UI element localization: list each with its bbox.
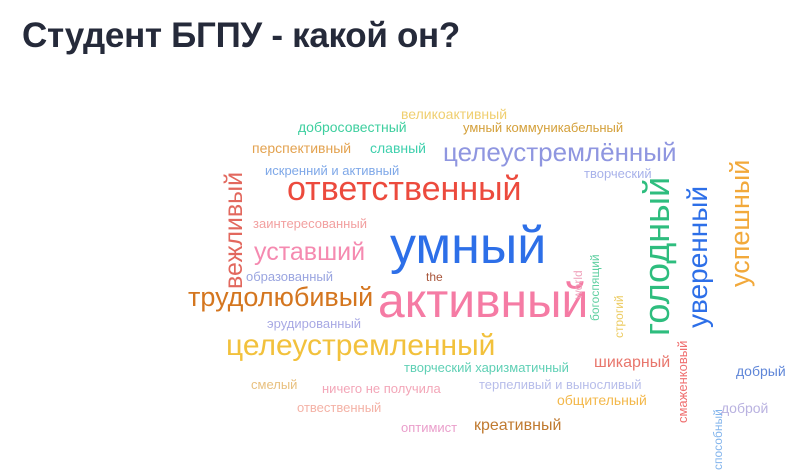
cloud-word: строгий <box>613 295 625 338</box>
cloud-word: добрый <box>736 364 786 378</box>
cloud-word: искренний и активный <box>265 164 399 177</box>
cloud-word: образованный <box>246 270 333 283</box>
cloud-word: терпеливый и выносливый <box>479 378 641 391</box>
cloud-word: уверенный <box>684 186 712 328</box>
cloud-word: отвественный <box>297 401 381 414</box>
word-cloud: умныйактивныйответственныйцелеустремленн… <box>0 88 800 471</box>
cloud-word: доброй <box>721 401 768 415</box>
cloud-word: способный <box>712 409 724 470</box>
cloud-word: шикарный <box>594 355 670 371</box>
cloud-word: перспективный <box>252 141 351 155</box>
cloud-word: эрудированный <box>267 317 361 330</box>
page-title: Студент БГПУ - какой он? <box>22 16 460 56</box>
slide-canvas: Студент БГПУ - какой он? умныйактивныйот… <box>0 0 800 471</box>
cloud-word: умный коммуникабельный <box>463 121 623 134</box>
cloud-word: целеустремленный <box>226 331 495 361</box>
cloud-word: голодный <box>639 177 675 336</box>
cloud-word: оптимист <box>401 421 457 434</box>
cloud-word: целеустремлённый <box>443 139 677 165</box>
cloud-word: добросовестный <box>298 120 407 134</box>
cloud-word: world <box>572 270 584 299</box>
cloud-word: богоспящий <box>589 254 601 321</box>
cloud-word: творческий харизматичный <box>404 361 569 374</box>
cloud-word: активный <box>378 278 588 326</box>
cloud-word: великоактивный <box>401 107 507 121</box>
cloud-word: общительный <box>557 393 647 407</box>
cloud-word: the <box>426 271 443 283</box>
cloud-word: креативный <box>474 418 561 434</box>
cloud-word: успешный <box>727 160 754 287</box>
cloud-word: умный <box>390 220 546 272</box>
cloud-word: творческий <box>584 167 652 180</box>
cloud-word: ничего не получила <box>322 382 441 395</box>
cloud-word: смаженковый <box>676 341 689 423</box>
cloud-word: уставший <box>254 240 365 265</box>
cloud-word: трудолюбивый <box>188 284 373 311</box>
cloud-word: заинтересованный <box>253 217 367 230</box>
cloud-word: смелый <box>251 378 297 391</box>
cloud-word: славный <box>370 141 426 155</box>
cloud-word: вежливый <box>222 172 247 289</box>
